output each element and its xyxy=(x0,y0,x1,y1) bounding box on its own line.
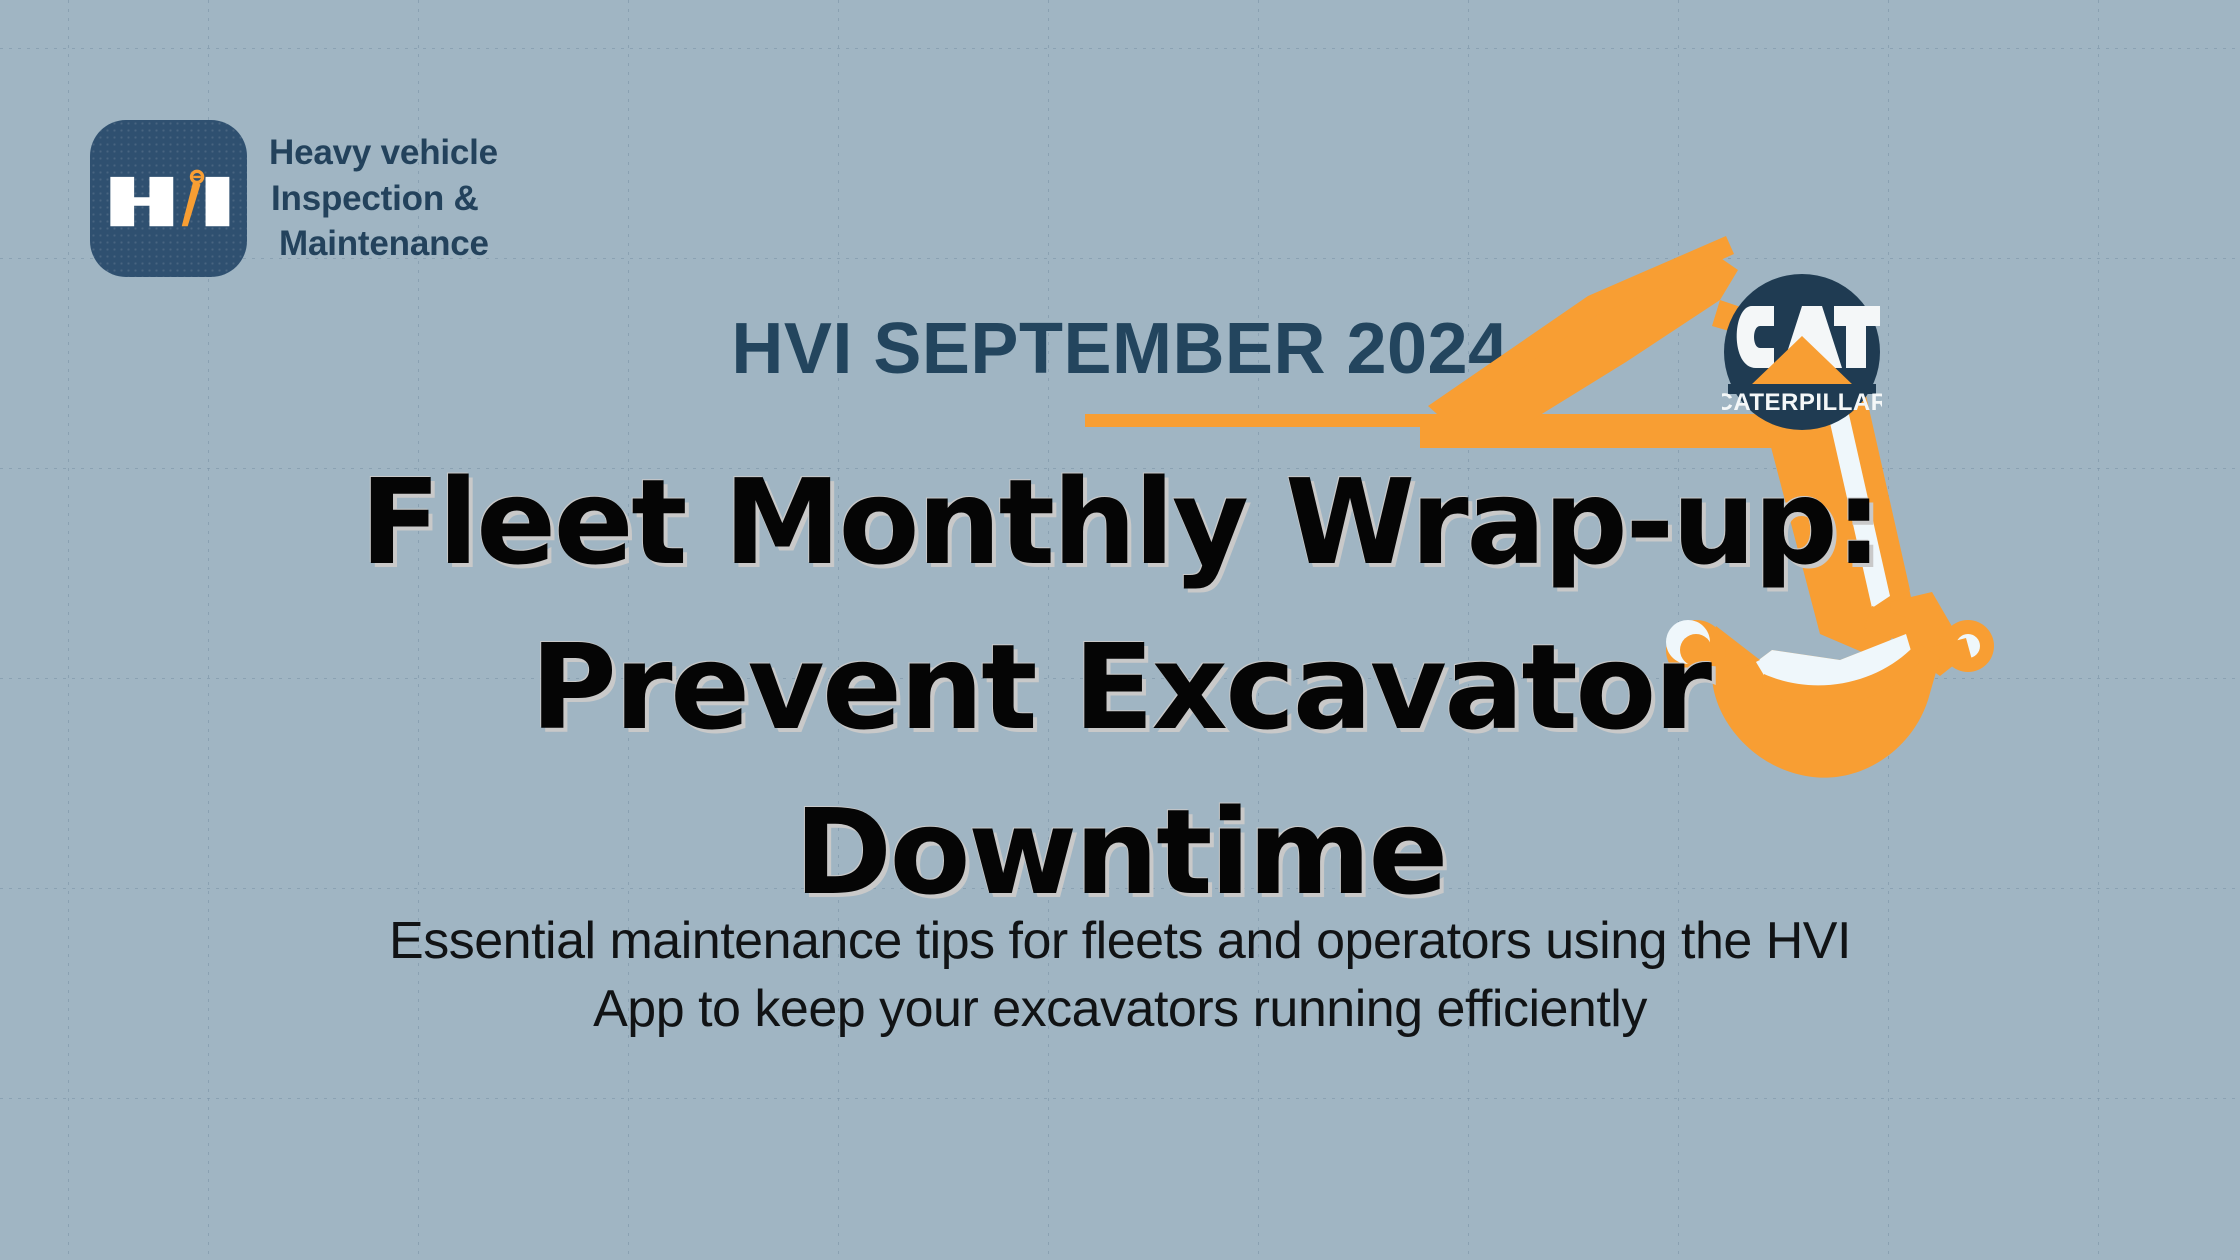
caterpillar-logo-icon: CATERPILLAR xyxy=(1722,272,1882,432)
hvi-logo-glyph xyxy=(90,120,247,277)
hvi-logo-icon xyxy=(90,120,247,277)
brand-line-1: Heavy vehicle xyxy=(269,130,498,176)
page-subtitle: Essential maintenance tips for fleets an… xyxy=(340,908,1900,1043)
page-title: Fleet Monthly Wrap-up: Prevent Excavator… xyxy=(0,440,2240,936)
grid-hline xyxy=(0,48,2240,49)
poster-canvas: Heavy vehicle Inspection & Maintenance H… xyxy=(0,0,2240,1260)
brand-wordmark: Heavy vehicle Inspection & Maintenance xyxy=(269,130,498,267)
grid-hline xyxy=(0,1098,2240,1099)
caterpillar-wordmark: CATERPILLAR xyxy=(1722,389,1882,416)
brand-line-3: Maintenance xyxy=(269,221,498,267)
brand-lockup: Heavy vehicle Inspection & Maintenance xyxy=(90,120,498,277)
headline-line-2: Prevent Excavator xyxy=(0,605,2240,770)
brand-line-2: Inspection & xyxy=(269,176,498,222)
headline-line-1: Fleet Monthly Wrap-up: xyxy=(0,440,2240,605)
